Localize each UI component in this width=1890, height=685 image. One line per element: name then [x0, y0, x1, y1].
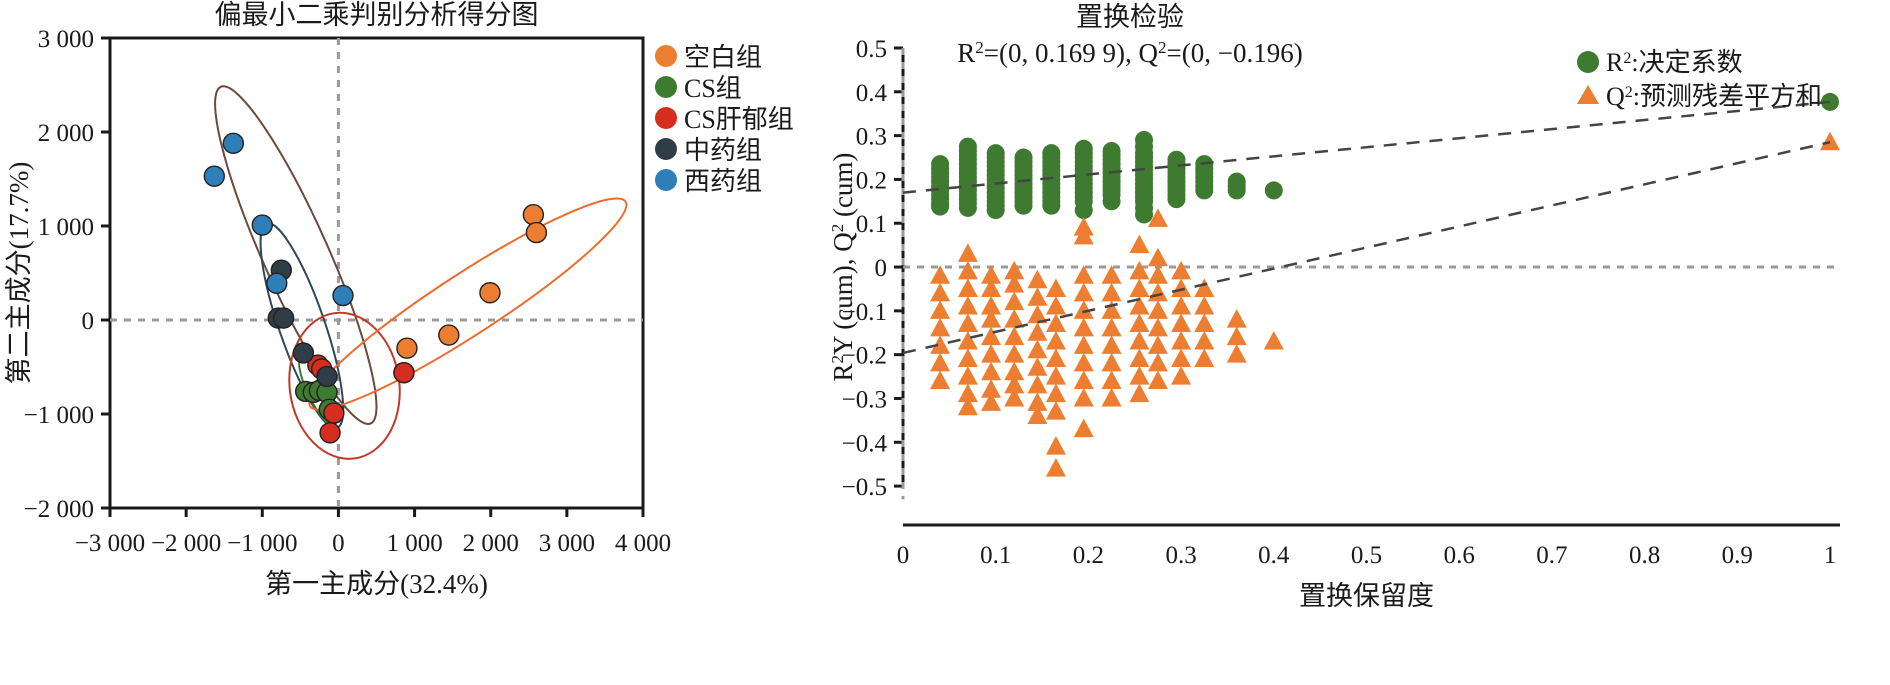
scatter-point	[1194, 314, 1214, 333]
scatter-point	[1046, 401, 1066, 420]
x-tick-label: 0.9	[1722, 542, 1753, 569]
scatter-point	[1046, 349, 1066, 368]
scatter-point	[987, 201, 1005, 219]
scatter-point	[1004, 344, 1024, 363]
scatter-point	[1148, 248, 1168, 266]
scatter-point	[1102, 283, 1122, 302]
y-tick-label: 0.4	[856, 80, 888, 107]
legend-label[interactable]: CS组	[684, 74, 742, 103]
scatter-point	[1046, 384, 1066, 403]
plsda-score-svg: 偏最小二乘判别分析得分图−2 000−1 00001 0002 0003 000…	[0, 0, 830, 685]
x-tick-label: −2 000	[151, 530, 221, 557]
scatter-point	[1074, 419, 1094, 438]
scatter-point	[1148, 335, 1168, 354]
scatter-point	[981, 362, 1001, 381]
scatter-point	[1046, 366, 1066, 385]
y-tick-label: 1 000	[38, 214, 94, 241]
y-tick-label: 2 000	[38, 120, 94, 147]
x-tick-label: 0.2	[1073, 542, 1104, 569]
scatter-point	[204, 166, 224, 186]
y-tick-label: −0.4	[842, 430, 888, 457]
x-tick-label: −1 000	[227, 530, 297, 557]
scatter-point	[439, 325, 459, 345]
scatter-point	[958, 349, 978, 368]
x-axis-title: 置换保留度	[1299, 581, 1434, 611]
scatter-point	[1004, 292, 1024, 311]
scatter-point	[1171, 314, 1191, 333]
x-tick-label: 0	[897, 542, 910, 569]
scatter-point	[958, 278, 978, 297]
x-tick-label: 1	[1824, 542, 1837, 569]
y-tick-label: 3 000	[38, 26, 94, 53]
scatter-point	[1129, 278, 1149, 297]
scatter-point	[1265, 181, 1283, 199]
scatter-point	[1228, 181, 1246, 199]
plsda-score-panel: 偏最小二乘判别分析得分图−2 000−1 00001 0002 0003 000…	[0, 0, 830, 685]
x-tick-label: −3 000	[75, 530, 145, 557]
x-tick-label: 0.1	[980, 542, 1011, 569]
scatter-point	[1171, 366, 1191, 385]
scatter-point	[1129, 331, 1149, 350]
scatter-point	[1027, 270, 1047, 289]
scatter-point	[1074, 318, 1094, 337]
scatter-point	[1046, 458, 1066, 477]
permutation-legend: R2:决定系数Q2:预测残差平方和	[1577, 48, 1822, 111]
plsda-chart-title: 偏最小二乘判别分析得分图	[215, 0, 539, 30]
scatter-point	[1102, 370, 1122, 389]
scatter-point	[1103, 192, 1121, 210]
scatter-point	[958, 243, 978, 262]
x-tick-label: 0.4	[1258, 542, 1290, 569]
scatter-point	[1194, 331, 1214, 350]
scatter-point	[930, 353, 950, 372]
scatter-point	[333, 286, 353, 306]
scatter-point	[1148, 370, 1168, 389]
y-tick-label: 0.5	[856, 36, 887, 63]
x-tick-label: 0.6	[1444, 542, 1475, 569]
scatter-point	[1102, 318, 1122, 337]
y-axis-title: 第二主成分(17.7%)	[4, 162, 34, 385]
scatter-point	[1102, 335, 1122, 354]
permutation-chart-title: 置换检验	[1076, 2, 1184, 32]
scatter-point	[1102, 353, 1122, 372]
scatter-point	[958, 261, 978, 280]
scatter-point	[1148, 265, 1168, 284]
scatter-point	[958, 331, 978, 350]
legend-marker-icon	[655, 45, 677, 67]
scatter-point	[1074, 388, 1094, 407]
scatter-point	[1004, 327, 1024, 346]
scatter-point	[930, 300, 950, 319]
scatter-point	[317, 366, 337, 386]
scatter-point	[1227, 309, 1247, 328]
scatter-point	[1171, 331, 1191, 350]
scatter-point	[1074, 283, 1094, 302]
plsda-legend: 空白组CS组CS肝郁组中药组西药组	[655, 43, 794, 196]
permutation-subtitle: R2=(0, 0.169 9), Q2=(0, −0.196)	[957, 38, 1302, 69]
y-tick-label: −0.3	[842, 386, 887, 413]
x-tick-label: 0.5	[1351, 542, 1382, 569]
scatter-point	[1820, 132, 1840, 151]
trend-line	[903, 102, 1830, 193]
scatter-point	[1015, 197, 1033, 215]
legend-marker-icon	[655, 107, 677, 129]
scatter-point	[1046, 331, 1066, 350]
y-tick-label: 0.2	[856, 167, 887, 194]
scatter-point	[1129, 261, 1149, 280]
scatter-point	[1148, 300, 1168, 319]
scatter-point	[324, 403, 344, 423]
legend-label[interactable]: 西药组	[684, 167, 762, 196]
scatter-point	[1046, 278, 1066, 297]
legend-marker-icon	[655, 169, 677, 191]
scatter-point	[1027, 322, 1047, 341]
legend-marker-icon	[655, 76, 677, 98]
scatter-point	[930, 335, 950, 354]
y-tick-label: 0.3	[856, 124, 887, 151]
scatter-point	[1027, 357, 1047, 376]
scatter-point	[1227, 344, 1247, 363]
scatter-point	[397, 338, 417, 358]
scatter-point	[1227, 327, 1247, 346]
scatter-point	[523, 205, 543, 225]
scatter-point	[1194, 349, 1214, 368]
permutation-test-panel: 置换检验R2=(0, 0.169 9), Q2=(0, −0.196)−0.5−…	[830, 0, 1890, 685]
figure-root: 偏最小二乘判别分析得分图−2 000−1 00001 0002 0003 000…	[0, 0, 1890, 685]
scatter-point	[223, 133, 243, 153]
scatter-point	[1027, 340, 1047, 359]
x-tick-label: 2 000	[463, 530, 519, 557]
scatter-point	[1074, 335, 1094, 354]
x-tick-label: 0	[332, 530, 345, 557]
x-tick-label: 0.7	[1536, 542, 1567, 569]
y-tick-label: 0.1	[856, 211, 887, 238]
scatter-point	[1148, 283, 1168, 302]
scatter-point	[1129, 384, 1149, 403]
scatter-point	[1167, 190, 1185, 208]
legend-label[interactable]: 中药组	[684, 136, 762, 165]
scatter-point	[1102, 388, 1122, 407]
x-axis-title: 第一主成分(32.4%)	[265, 569, 488, 599]
scatter-point	[252, 215, 272, 235]
scatter-point	[930, 318, 950, 337]
scatter-point	[320, 423, 340, 443]
scatter-point	[958, 314, 978, 333]
scatter-point	[1046, 436, 1066, 455]
scatter-point	[1148, 353, 1168, 372]
scatter-point	[981, 344, 1001, 363]
x-tick-label: 4 000	[615, 530, 671, 557]
scatter-point	[1148, 318, 1168, 337]
scatter-point	[1195, 181, 1213, 199]
scatter-point	[958, 296, 978, 315]
y-tick-label: −2 000	[24, 496, 94, 523]
scatter-point	[931, 198, 949, 216]
x-tick-label: 3 000	[539, 530, 595, 557]
scatter-point	[1027, 287, 1047, 306]
y-tick-label: 0	[875, 255, 888, 282]
legend-label[interactable]: CS肝郁组	[684, 105, 794, 134]
x-tick-label: 1 000	[386, 530, 442, 557]
legend-label[interactable]: 空白组	[684, 43, 762, 72]
scatter-point	[1027, 375, 1047, 394]
y-tick-label: −1 000	[24, 402, 94, 429]
trend-line	[903, 142, 1830, 353]
scatter-point	[526, 223, 546, 243]
y-tick-label: −0.5	[842, 474, 887, 501]
scatter-point	[274, 308, 294, 328]
x-tick-label: 0.8	[1629, 542, 1660, 569]
scatter-point	[1171, 296, 1191, 315]
scatter-point	[1171, 261, 1191, 280]
scatter-point	[1129, 314, 1149, 333]
y-axis-title: R2Y (cum), Q2 (cum)	[830, 153, 858, 382]
scatter-point	[293, 343, 313, 363]
legend-label[interactable]: Q2:预测残差平方和	[1606, 82, 1822, 111]
scatter-point	[1102, 300, 1122, 319]
scatter-point	[1046, 296, 1066, 315]
scatter-point	[1171, 349, 1191, 368]
scatter-point	[1074, 353, 1094, 372]
scatter-point	[1074, 370, 1094, 389]
scatter-point	[267, 273, 287, 293]
scatter-point	[394, 363, 414, 383]
scatter-point	[930, 370, 950, 389]
scatter-point	[1129, 349, 1149, 368]
permutation-test-svg: 置换检验R2=(0, 0.169 9), Q2=(0, −0.196)−0.5−…	[830, 0, 1890, 685]
scatter-point	[1264, 331, 1284, 350]
legend-marker-icon	[1577, 51, 1599, 73]
scatter-point	[1129, 235, 1149, 254]
scatter-point	[959, 199, 977, 217]
scatter-point	[1075, 201, 1093, 219]
scatter-point	[1171, 278, 1191, 297]
y-tick-label: 0	[82, 308, 95, 335]
scatter-point	[1135, 205, 1153, 223]
scatter-point	[1042, 197, 1060, 215]
legend-marker-icon	[1577, 85, 1599, 104]
scatter-point	[981, 327, 1001, 346]
scatter-point	[1194, 296, 1214, 315]
scatter-point	[1129, 366, 1149, 385]
scatter-point	[480, 283, 500, 303]
scatter-point	[1194, 278, 1214, 297]
permutation-points	[930, 93, 1840, 477]
scatter-point	[958, 366, 978, 385]
legend-marker-icon	[655, 138, 677, 160]
legend-label[interactable]: R2:决定系数	[1606, 48, 1743, 77]
scatter-point	[930, 283, 950, 302]
x-tick-label: 0.3	[1165, 542, 1196, 569]
